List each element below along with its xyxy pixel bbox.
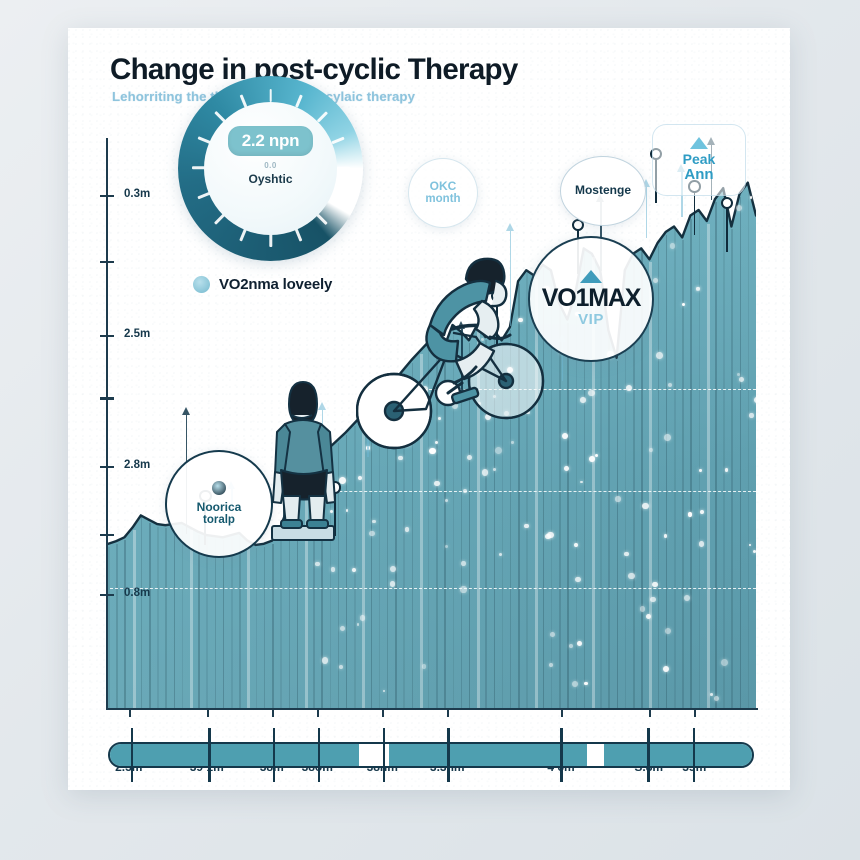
gauge-tick xyxy=(269,234,272,247)
callout-normal-line2: toralp xyxy=(203,514,235,527)
bar-separator xyxy=(215,539,217,708)
bar-separator xyxy=(141,518,143,708)
range-slider[interactable] xyxy=(108,742,754,768)
speckle-dot xyxy=(640,606,645,611)
bar-separator xyxy=(690,219,692,708)
y-tick xyxy=(100,594,114,596)
bar-separator xyxy=(707,224,710,708)
speckle-dot xyxy=(725,468,729,472)
marker-stem xyxy=(726,208,728,252)
speckle-dot xyxy=(369,531,374,536)
y-tick-label: 2.8m xyxy=(124,459,150,471)
slider-segment[interactable] xyxy=(110,744,359,766)
bar-separator xyxy=(174,527,176,708)
speckle-dot xyxy=(574,543,578,547)
cyclist-figure xyxy=(356,233,554,463)
x-tick xyxy=(272,708,274,717)
bar-separator xyxy=(190,530,193,708)
callout-peak[interactable]: Peak Ann xyxy=(652,124,746,196)
speckle-dot xyxy=(749,413,753,417)
gauge-tick xyxy=(331,192,344,199)
x-tick xyxy=(649,708,651,717)
bar-separator xyxy=(165,528,167,708)
standing-person-figure xyxy=(256,360,348,560)
speckle-dot xyxy=(664,534,668,538)
speckle-dot xyxy=(710,693,713,696)
speckle-dot xyxy=(524,524,529,529)
speckle-dot xyxy=(700,510,704,514)
marker-stem xyxy=(694,191,696,235)
gauge-tick xyxy=(316,214,327,225)
speckle-dot xyxy=(372,520,376,524)
bar-separator xyxy=(133,530,136,708)
callout-peak-line1: Peak xyxy=(683,152,716,167)
speckle-dot xyxy=(589,456,595,462)
bar-separator xyxy=(206,538,208,708)
gauge-tick xyxy=(295,228,302,241)
triangle-up-icon xyxy=(580,270,602,283)
bar-separator xyxy=(740,197,742,708)
slider-stem xyxy=(131,728,133,782)
callout-normal-dot-icon xyxy=(212,481,226,495)
speckle-dot xyxy=(642,503,648,509)
speckle-dot xyxy=(340,626,345,631)
speckle-dot xyxy=(493,468,496,471)
speckle-dot xyxy=(357,623,360,626)
x-tick xyxy=(382,708,384,717)
gauge-tick xyxy=(192,167,205,170)
bar-separator xyxy=(715,202,717,708)
gauge-subvalue: 0.0 xyxy=(264,161,277,170)
callout-okc-line2: month xyxy=(425,193,460,206)
speckle-dot xyxy=(646,614,651,619)
speckle-dot xyxy=(649,448,653,452)
badge-title: VO1MAX xyxy=(542,284,640,313)
speckle-dot xyxy=(665,628,671,634)
x-tick xyxy=(561,708,563,717)
bar-separator xyxy=(182,526,184,708)
callout-peak-line2: Ann xyxy=(684,167,713,183)
bar-separator xyxy=(272,544,274,708)
x-tick xyxy=(447,708,449,717)
speckle-dot xyxy=(595,454,598,457)
speckle-dot xyxy=(580,481,583,484)
y-tick xyxy=(100,195,114,197)
bar-separator xyxy=(198,535,200,708)
bar-separator xyxy=(247,544,250,708)
speckle-dot xyxy=(754,397,756,403)
bar-separator xyxy=(559,306,561,708)
speckle-dot xyxy=(315,562,319,566)
poster-canvas: Change in post-cyclic Therapy Lehorritin… xyxy=(0,0,860,860)
speckle-dot xyxy=(390,566,396,572)
y-tick xyxy=(100,335,114,337)
speckle-dot xyxy=(564,466,569,471)
y-tick xyxy=(100,534,114,536)
bar-separator xyxy=(723,191,725,708)
y-tick-label: 0.3m xyxy=(124,188,150,200)
bar-separator xyxy=(748,186,750,708)
y-tick-label: 2.5m xyxy=(124,328,150,340)
bar-separator xyxy=(731,229,733,708)
speckle-dot xyxy=(482,469,489,476)
bar-separator xyxy=(567,323,569,709)
gauge-tick xyxy=(316,111,327,122)
callout-okc[interactable]: OKC month xyxy=(408,158,478,228)
slider-stem xyxy=(318,728,320,782)
legend-swatch-icon xyxy=(193,276,210,293)
bar-separator xyxy=(124,540,126,708)
bar-separator xyxy=(256,548,258,708)
speckle-dot xyxy=(656,352,663,359)
slider-segment[interactable] xyxy=(389,744,587,766)
slider-segment[interactable] xyxy=(604,744,754,766)
callout-normal-line1: Noorica xyxy=(197,501,242,514)
speckle-dot xyxy=(750,196,753,199)
speckle-dot xyxy=(339,665,343,669)
y-tick xyxy=(100,466,114,468)
badge-subtitle: VIP xyxy=(578,311,604,328)
gauge-caption: Oyshtic xyxy=(248,172,292,186)
slider-stem xyxy=(273,728,275,782)
speckle-dot xyxy=(624,552,628,556)
speckle-dot xyxy=(699,541,704,546)
bar-separator xyxy=(108,547,110,708)
y-tick xyxy=(100,261,114,263)
gauge-tick xyxy=(337,167,350,170)
y-axis xyxy=(106,138,108,708)
speckle-dot xyxy=(545,534,551,540)
bar-separator xyxy=(157,527,159,708)
legend-label: VO2nma loveely xyxy=(219,276,332,293)
gauge-tick xyxy=(331,137,344,144)
x-tick xyxy=(207,708,209,717)
bar-separator xyxy=(666,235,668,708)
slider-stem xyxy=(560,728,562,782)
callout-okc-line1: OKC xyxy=(430,180,457,193)
x-axis xyxy=(106,708,758,710)
speckle-dot xyxy=(550,632,555,637)
speckle-dot xyxy=(580,397,586,403)
speckle-dot xyxy=(696,287,699,290)
speckle-dot xyxy=(584,682,588,686)
speckle-dot xyxy=(422,664,426,668)
speckle-dot xyxy=(445,545,448,548)
bar-separator xyxy=(116,544,118,708)
bar-separator xyxy=(674,229,676,708)
speckle-dot xyxy=(652,582,658,588)
speckle-dot xyxy=(664,434,671,441)
speckle-dot xyxy=(360,615,365,620)
x-tick xyxy=(694,708,696,717)
bar-separator xyxy=(649,262,652,708)
slider-stem xyxy=(693,728,695,782)
slider-stem xyxy=(208,728,210,782)
speckle-dot xyxy=(405,527,410,532)
callout-mostenge-line1: Mostenge xyxy=(575,184,631,197)
x-tick xyxy=(129,708,131,717)
y-tick-label: 0.8m xyxy=(124,587,150,599)
slider-stem xyxy=(647,728,649,782)
y-tick xyxy=(100,397,114,399)
poster-card: Change in post-cyclic Therapy Lehorritin… xyxy=(68,28,790,790)
bar-separator xyxy=(617,361,619,708)
gauge-value: 2.2 npn xyxy=(228,126,313,156)
gridline xyxy=(110,588,756,589)
bar-separator xyxy=(658,246,660,708)
slider-stem xyxy=(383,728,385,782)
speckle-dot xyxy=(653,278,658,283)
speckle-dot xyxy=(434,481,440,487)
gauge-tick xyxy=(295,95,302,108)
bar-separator xyxy=(239,536,241,708)
peak-triangle-icon xyxy=(690,137,708,149)
bar-separator xyxy=(264,547,266,708)
slider-stem xyxy=(447,728,449,782)
speckle-dot xyxy=(460,586,466,592)
x-tick xyxy=(317,708,319,717)
speckle-dot xyxy=(615,496,620,501)
callout-mostenge[interactable]: Mostenge xyxy=(560,156,646,226)
speckle-dot xyxy=(699,469,701,471)
gauge-inner: 2.2 npn 0.0 Oyshtic xyxy=(204,102,337,235)
bar-separator xyxy=(231,538,233,708)
bar-separator xyxy=(223,540,225,708)
gauge-tick xyxy=(269,89,272,102)
speckle-dot xyxy=(714,696,719,701)
speckle-dot xyxy=(736,205,742,211)
speckle-dot xyxy=(650,597,656,603)
bar-separator xyxy=(682,240,684,708)
chart-legend: VO2nma loveely xyxy=(193,276,332,293)
bar-separator xyxy=(149,523,151,708)
vo2-gauge[interactable]: 2.2 npn 0.0 Oyshtic xyxy=(178,76,363,261)
